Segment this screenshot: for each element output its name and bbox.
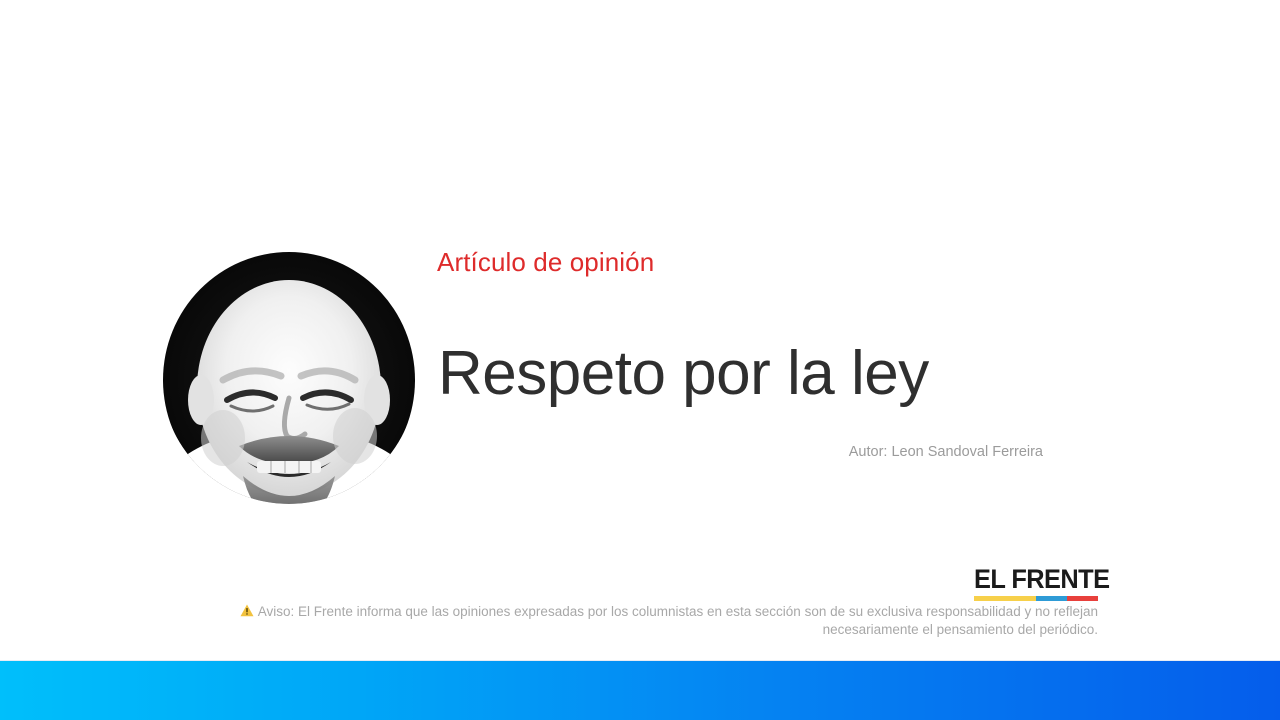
page-title: Respeto por la ley [438,335,1058,413]
author-portrait [161,248,417,504]
flag-stripe-yellow [974,596,1036,601]
warning-triangle-icon [240,604,254,617]
logo-wordmark: EL FRENTE [974,565,1091,593]
author-portrait-photo [161,248,417,504]
flag-stripe-blue [1036,596,1067,601]
article-author: Autor: Leon Sandoval Ferreira [640,442,1043,462]
el-frente-logo: EL FRENTE [974,565,1098,601]
colombia-flag-bar-icon [974,596,1098,601]
disclaimer-text: Aviso: El Frente informa que las opinion… [258,604,1098,637]
opinion-article-slide: Artículo de opinión Respeto por la ley A… [0,0,1280,720]
disclaimer: Aviso: El Frente informa que las opinion… [190,603,1098,638]
footer-gradient-band [0,661,1280,720]
article-kicker: Artículo de opinión [437,247,654,277]
flag-stripe-red [1067,596,1098,601]
